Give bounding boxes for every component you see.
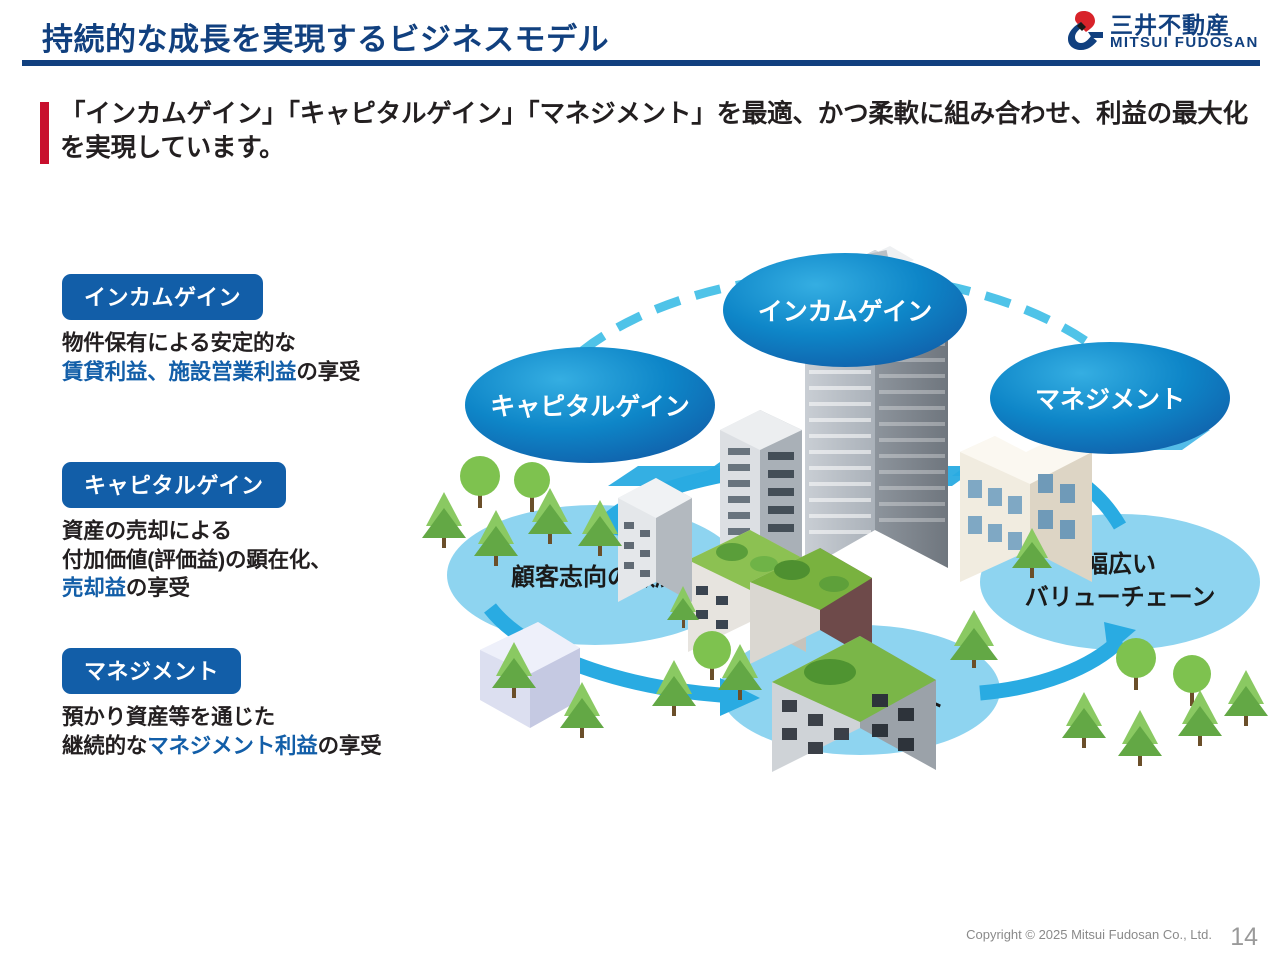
tree-conic [1062,692,1106,748]
ellipse-capital-gain-label: キャピタルゲイン [490,393,690,421]
company-logo: 三井不動産 MITSUI FUDOSAN [1062,6,1258,54]
badge-income-gain: インカムゲイン [62,274,263,320]
block-income-gain: インカムゲイン 物件保有による安定的な 賃貸利益、施設営業利益の享受 [62,274,462,386]
slide-header: 持続的な成長を実現するビジネスモデル 三井不動産 MITSUI FUDOSAN [0,0,1280,70]
ellipse-income-gain: インカムゲイン [723,253,967,367]
logo-text-en: MITSUI FUDOSAN [1110,34,1259,51]
block-income-gain-description: 物件保有による安定的な 賃貸利益、施設営業利益の享受 [62,329,462,386]
header-divider [22,60,1260,66]
desc-highlight: 売却益 [62,576,126,600]
tree-conic [1118,710,1162,766]
badge-capital-gain: キャピタルゲイン [62,462,286,508]
ellipse-income-gain-label: インカムゲイン [758,298,933,326]
ellipse-broad-value-chain-label-2: バリューチェーン [1025,584,1216,611]
tree-round [1116,638,1156,690]
tree-conic [1224,670,1268,726]
ellipse-management: マネジメント [990,342,1230,454]
tree-conic [1178,690,1222,746]
lead-accent-bar [40,102,49,164]
block-management-description: 預かり資産等を通じた 継続的なマネジメント利益の享受 [62,703,462,760]
desc-highlight: マネジメント利益 [147,734,317,758]
desc-line: の享受 [296,360,360,384]
mitsui-ampersand-mark-icon [1062,8,1106,52]
tree-conic [422,492,466,548]
tree-round [1173,655,1211,706]
desc-line: 預かり資産等を通じた [62,705,275,729]
business-model-diagram: 顧客志向の徹底 あらゆる 商品セグメント 幅広い バリューチェーン [420,230,1270,790]
block-capital-gain-description: 資産の売却による 付加価値(評価益)の顕在化、 売却益の享受 [62,517,462,603]
copyright-text: Copyright © 2025 Mitsui Fudosan Co., Ltd… [966,927,1212,942]
badge-management: マネジメント [62,648,241,694]
desc-line: 物件保有による安定的な [62,331,296,355]
desc-line: 資産の売却による [62,519,232,543]
tree-conic [950,610,998,668]
desc-highlight: 賃貸利益、施設営業利益 [62,360,296,384]
desc-line: の享受 [126,576,190,600]
lead-text: 「インカムゲイン」「キャピタルゲイン」「マネジメント」を最適、かつ柔軟に組み合わ… [60,98,1255,165]
page-title: 持続的な成長を実現するビジネスモデル [42,14,609,59]
block-capital-gain: キャピタルゲイン 資産の売却による 付加価値(評価益)の顕在化、 売却益の享受 [62,462,462,603]
ellipse-broad-value-chain-label-1: 幅広い [1084,550,1156,578]
desc-line: の享受 [318,734,382,758]
tree-round [460,456,500,508]
ellipse-capital-gain: キャピタルゲイン [465,347,715,463]
block-management: マネジメント 預かり資産等を通じた 継続的なマネジメント利益の享受 [62,648,462,760]
ellipse-management-label: マネジメント [1035,386,1185,414]
desc-line: 継続的な [62,734,147,758]
page-number: 14 [1230,923,1258,952]
desc-line: 付加価値(評価益)の顕在化、 [62,548,332,572]
